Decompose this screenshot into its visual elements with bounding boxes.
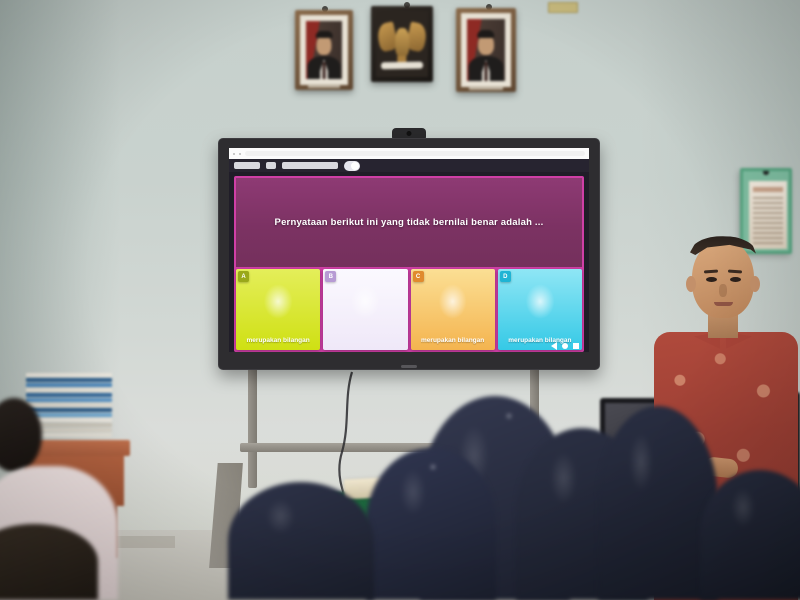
answer-options: A merupakan bilangan B C merupakan bilan… (236, 269, 582, 350)
toolbar-chip-3[interactable] (282, 162, 338, 169)
answer-letter-d: D (500, 271, 511, 282)
stop-presentation-icon[interactable] (573, 343, 579, 349)
answer-card-b[interactable]: B (323, 269, 407, 350)
student-hijab-1 (228, 482, 374, 600)
hijab-pin-icon (507, 414, 511, 418)
teacher-face (692, 240, 754, 318)
teacher-ear-left (686, 276, 696, 292)
answer-b-highlight (351, 284, 380, 320)
garuda-body (395, 28, 409, 57)
teacher-ear-right (750, 276, 760, 292)
previous-slide-icon[interactable] (551, 342, 557, 350)
teacher-eye-left (706, 277, 717, 282)
garuda-motto-banner (381, 61, 423, 69)
browser-address-bar[interactable] (229, 148, 589, 159)
answer-text-a: merupakan bilangan (239, 337, 317, 346)
vice-presidential-portrait-frame (456, 8, 516, 92)
portrait-nameplate (308, 84, 341, 88)
hijab-sheen-1 (266, 499, 295, 534)
wall-plaque (548, 2, 578, 13)
answer-a-highlight (264, 284, 293, 320)
presidential-portrait-frame (295, 10, 353, 90)
toolbar-chip-1[interactable] (234, 162, 260, 169)
browser-dot-2 (239, 153, 241, 155)
portrait-peci-cap-2 (477, 30, 494, 38)
garuda-photo (376, 11, 428, 77)
question-banner: Pernyataan berikut ini yang tidak bernil… (236, 178, 582, 267)
answer-letter-b: B (325, 271, 336, 282)
question-text: Pernyataan berikut ini yang tidak bernil… (275, 217, 544, 229)
slide-navigation[interactable] (551, 342, 579, 350)
answer-d-highlight (526, 284, 555, 320)
slide-indicator-icon[interactable] (562, 343, 568, 349)
teacher-nose (719, 284, 727, 297)
browser-dot-1 (233, 153, 235, 155)
answer-card-a[interactable]: A merupakan bilangan (236, 269, 320, 350)
hijab-sheen-6 (731, 488, 755, 527)
hijab-pin-icon-2 (431, 465, 435, 469)
answer-text-c: merupakan bilangan (414, 337, 492, 346)
answer-card-d[interactable]: D merupakan bilangan (498, 269, 582, 350)
answer-card-c[interactable]: C merupakan bilangan (411, 269, 495, 350)
portrait-tie-2 (484, 62, 487, 81)
teacher-eye-right (730, 277, 741, 282)
quiz-slide: Pernyataan berikut ini yang tidak bernil… (229, 172, 589, 352)
tv-stand-leg-left (248, 368, 257, 488)
address-input[interactable] (245, 151, 585, 156)
classroom-scene: Pernyataan berikut ini yang tidak bernil… (0, 0, 800, 600)
portrait-tie (323, 62, 326, 79)
portrait-nameplate-2 (469, 86, 503, 90)
answer-letter-c: C (413, 271, 424, 282)
presentation-toolbar[interactable] (229, 159, 589, 172)
teacher-mouth (714, 302, 733, 306)
portrait-peci-cap (316, 31, 333, 39)
notice-heading (753, 187, 783, 192)
garuda-wing-right (406, 21, 428, 52)
slide-frame: Pernyataan berikut ini yang tidak bernil… (234, 176, 584, 352)
toolbar-chip-2[interactable] (266, 162, 276, 169)
display-screen[interactable]: Pernyataan berikut ini yang tidak bernil… (229, 148, 589, 352)
hijab-sheen-2 (400, 469, 426, 515)
student-hijab-2 (366, 448, 496, 600)
answer-c-highlight (438, 284, 467, 320)
answer-letter-a: A (238, 271, 249, 282)
hijab-sheen-5 (629, 433, 653, 491)
display-brand-mark (401, 365, 417, 368)
garuda-pancasila-frame (371, 6, 433, 82)
portrait-photo (306, 21, 342, 79)
presentation-toggle[interactable] (344, 161, 360, 171)
hijab-sheen-4 (550, 452, 576, 504)
notice-pin-icon (763, 169, 769, 175)
portrait-photo-2 (467, 19, 505, 81)
interactive-display[interactable]: Pernyataan berikut ini yang tidak bernil… (218, 138, 600, 370)
